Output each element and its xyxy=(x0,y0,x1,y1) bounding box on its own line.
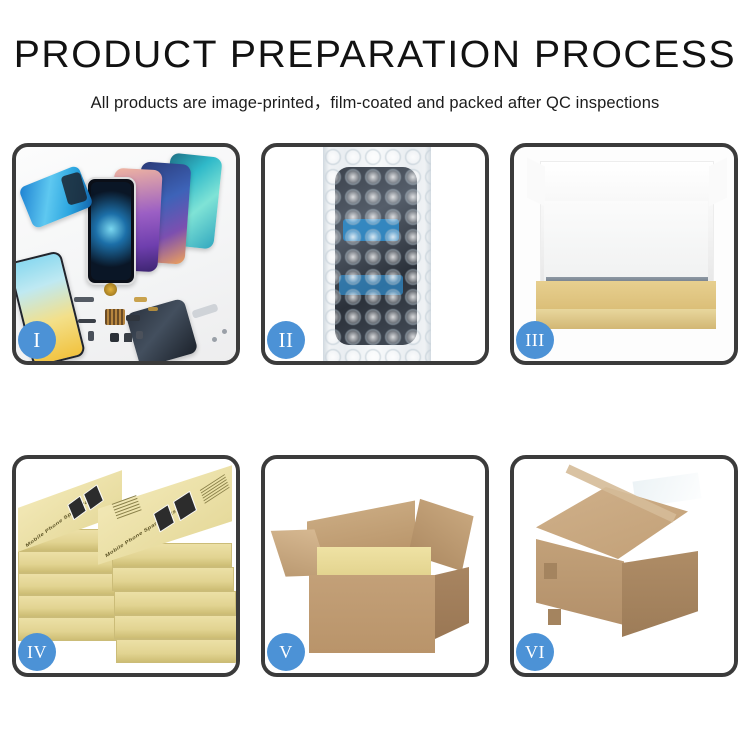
part-tool-icon xyxy=(191,303,218,319)
adhesive-tape-icon xyxy=(18,165,94,230)
step-panel-5[interactable]: V xyxy=(261,455,489,677)
part-connector-icon xyxy=(74,297,94,302)
carton-tab-lower xyxy=(548,609,561,625)
tray-front-face xyxy=(536,309,716,329)
stack-box-bl-4 xyxy=(18,595,116,617)
step-badge-4: IV xyxy=(18,633,56,671)
part-grid-icon xyxy=(105,309,125,325)
step-badge-6: VI xyxy=(516,633,554,671)
step-badge-2: II xyxy=(267,321,305,359)
part-gold-flex-icon xyxy=(134,297,147,302)
part-chip-icon xyxy=(136,331,143,339)
stack-box-r-2 xyxy=(112,567,234,591)
step-badge-1: I xyxy=(18,321,56,359)
page-subtitle: All products are image-printed，film-coat… xyxy=(0,77,750,113)
kraft-tray-icon xyxy=(536,281,716,329)
part-button-icon xyxy=(88,331,94,341)
box-stack: Mobile Phone Spare Parts Mobile Phone Sp… xyxy=(18,481,236,663)
step-badge-5: V xyxy=(267,633,305,671)
part-speaker-icon xyxy=(104,283,117,296)
box-screen-thumb-3 xyxy=(153,504,175,533)
page-title: PRODUCT PREPARATION PROCESS xyxy=(0,0,750,77)
carton-tab-upper xyxy=(544,563,557,579)
box-spec-lines-2 xyxy=(200,474,230,505)
part-screw-2-icon xyxy=(222,329,227,334)
stack-box-bl-3 xyxy=(18,573,116,595)
carton-side-face xyxy=(435,567,469,639)
part-gold-contact-icon xyxy=(148,307,158,311)
step-panel-2[interactable]: II xyxy=(261,143,489,365)
foam-lining-icon xyxy=(544,201,708,285)
step-panel-1[interactable]: I xyxy=(12,143,240,365)
part-flex-cable-icon xyxy=(78,319,96,323)
step-badge-3: III xyxy=(516,321,554,359)
carton-front-face xyxy=(309,575,435,653)
stack-box-r-5 xyxy=(116,639,236,663)
stack-box-r-3 xyxy=(114,591,236,615)
process-steps-grid: I II xyxy=(0,143,750,683)
bag-edge-left xyxy=(323,147,329,361)
part-screw-icon xyxy=(212,337,217,342)
part-camera-icon xyxy=(110,333,119,342)
carton-right-face xyxy=(622,551,698,637)
part-ribbon-icon xyxy=(126,315,140,321)
step-panel-4[interactable]: Mobile Phone Spare Parts Mobile Phone Sp… xyxy=(12,455,240,677)
part-module-icon xyxy=(124,333,132,342)
step-panel-3[interactable]: III xyxy=(510,143,738,365)
phone-back-housing-icon xyxy=(125,298,198,361)
stack-box-r-4 xyxy=(114,615,236,639)
bag-edge-right xyxy=(425,147,431,361)
phone-black-screen-icon xyxy=(86,177,136,285)
step-panel-6[interactable]: VI xyxy=(510,455,738,677)
page-header: PRODUCT PREPARATION PROCESS All products… xyxy=(0,0,750,113)
box-screen-thumb-4 xyxy=(173,491,197,522)
bubble-texture xyxy=(323,147,431,361)
bubble-bag-icon xyxy=(323,147,431,361)
